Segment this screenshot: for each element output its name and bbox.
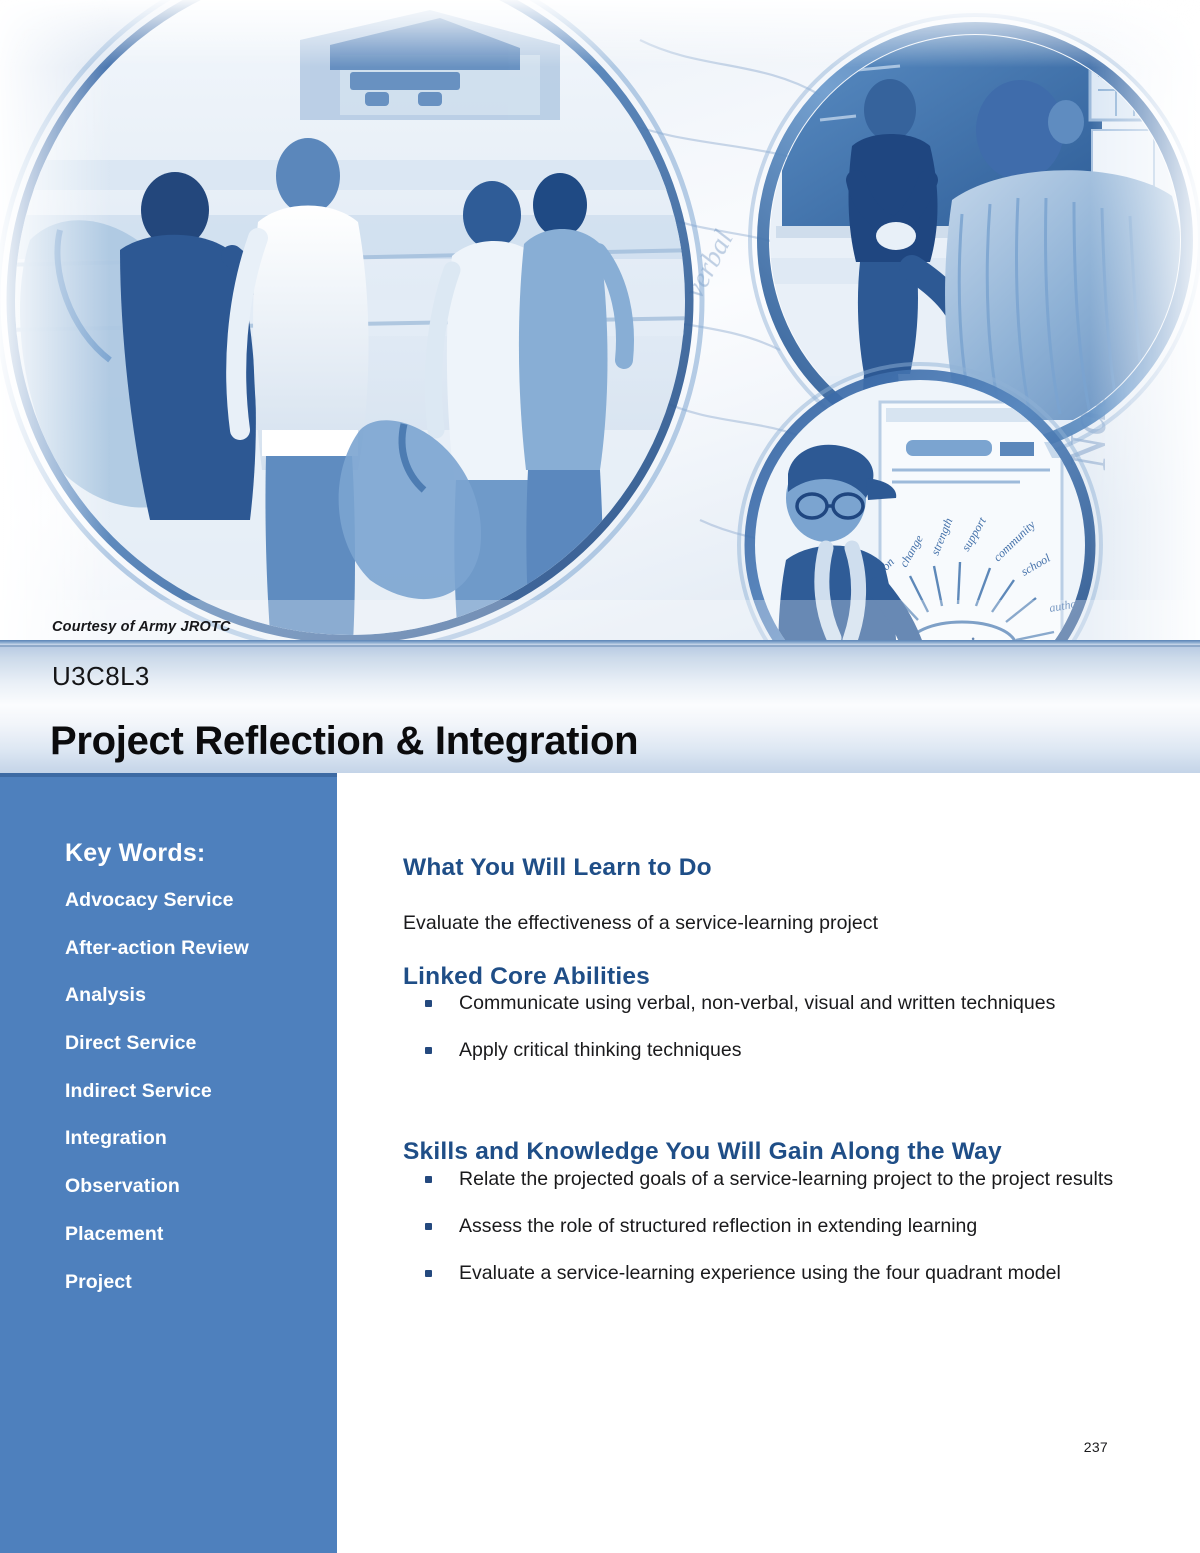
list-item: Advocacy Service <box>65 891 330 911</box>
list-item-label: Evaluate a service-learning experience u… <box>459 1262 1061 1284</box>
list-item: Indirect Service <box>65 1082 330 1102</box>
list-item: Assess the role of structured reflection… <box>403 1214 1123 1239</box>
section-heading-skills-and-knowledge: Skills and Knowledge You Will Gain Along… <box>403 1140 1002 1165</box>
section-heading-what-you-will-learn: What You Will Learn to Do <box>403 856 712 881</box>
list-item: Observation <box>65 1177 330 1197</box>
bullet-icon <box>425 1176 432 1183</box>
key-words-sidebar: Key Words: Advocacy Service After-action… <box>0 773 337 1553</box>
key-words-heading: Key Words: <box>65 841 205 866</box>
lesson-code: U3C8L3 <box>52 663 150 689</box>
key-words-list: Advocacy Service After-action Review Ana… <box>65 891 330 1320</box>
section-heading-linked-core-abilities: Linked Core Abilities <box>403 965 650 990</box>
header-photo-collage: Naturalist nalis verbal <box>0 0 1200 645</box>
lesson-content: What You Will Learn to Do Evaluate the e… <box>337 773 1200 1553</box>
list-item: Integration <box>65 1129 330 1149</box>
bullet-icon <box>425 1000 432 1007</box>
list-item: Direct Service <box>65 1034 330 1054</box>
skills-and-knowledge-list: Relate the projected goals of a service-… <box>403 1167 1123 1308</box>
list-item: Apply critical thinking techniques <box>403 1038 1123 1063</box>
page-title: Project Reflection & Integration <box>50 720 638 762</box>
list-item: Communicate using verbal, non-verbal, vi… <box>403 991 1123 1016</box>
bullet-icon <box>425 1047 432 1054</box>
bullet-icon <box>425 1223 432 1230</box>
list-item: Evaluate a service-learning experience u… <box>403 1261 1123 1286</box>
list-item-label: Communicate using verbal, non-verbal, vi… <box>459 992 1055 1014</box>
list-item-label: Relate the projected goals of a service-… <box>459 1168 1113 1190</box>
photo-credit-caption: Courtesy of Army JROTC <box>52 619 231 635</box>
list-item: Analysis <box>65 986 330 1006</box>
list-item-label: Apply critical thinking techniques <box>459 1039 742 1061</box>
list-item: Placement <box>65 1225 330 1245</box>
collage-artwork: Naturalist nalis verbal <box>0 0 1200 645</box>
list-item: Relate the projected goals of a service-… <box>403 1167 1123 1192</box>
title-band-top-rule <box>0 645 1200 647</box>
sidebar-top-rule <box>0 773 337 777</box>
what-you-will-learn-text: Evaluate the effectiveness of a service-… <box>403 911 878 936</box>
list-item-label: Assess the role of structured reflection… <box>459 1215 977 1237</box>
page-number: 237 <box>1084 1439 1108 1455</box>
bullet-icon <box>425 1270 432 1277</box>
lesson-title-band: U3C8L3 Project Reflection & Integration <box>0 645 1200 773</box>
list-item: Project <box>65 1273 330 1293</box>
list-item: After-action Review <box>65 939 330 959</box>
linked-core-abilities-list: Communicate using verbal, non-verbal, vi… <box>403 991 1123 1085</box>
